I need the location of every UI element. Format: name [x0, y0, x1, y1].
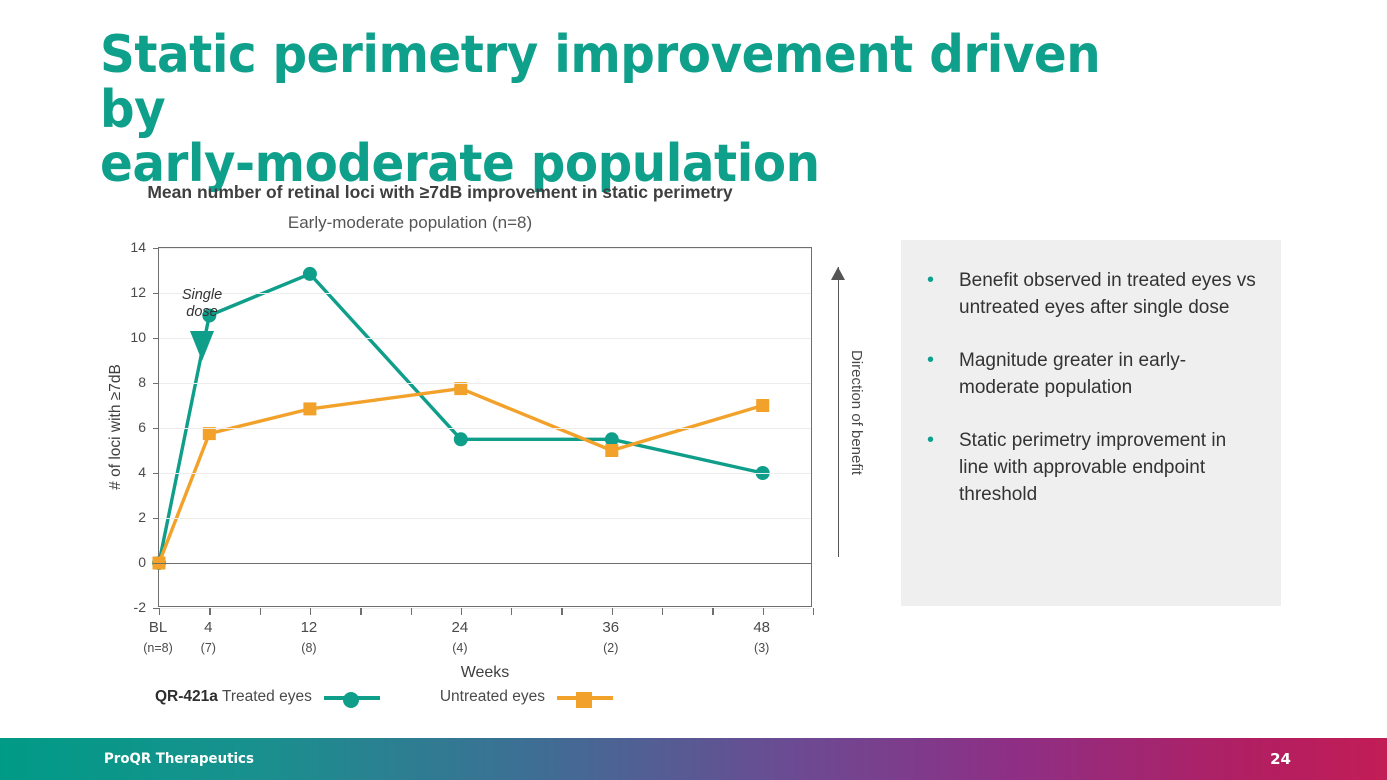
x-tick-label: 24	[420, 619, 500, 636]
y-tick-label: 14	[112, 239, 146, 255]
legend-swatch-untreated	[557, 689, 613, 705]
legend-item-treated[interactable]: QR-421a Treated eyes	[155, 688, 380, 706]
x-tick-mark	[561, 608, 562, 615]
single-dose-arrow-icon	[190, 331, 214, 361]
y-tick-mark	[153, 248, 159, 249]
chart-legend: QR-421a Treated eyes Untreated eyes	[155, 688, 613, 706]
legend-item-untreated[interactable]: Untreated eyes	[440, 688, 613, 706]
callout-bullet: Static perimetry improvement in line wit…	[915, 428, 1259, 509]
footer-brand-label: ProQR Therapeutics	[104, 751, 254, 767]
x-tick-mark	[712, 608, 713, 615]
y-tick-label: 4	[112, 464, 146, 480]
slide-footer: ProQR Therapeutics 24	[0, 738, 1387, 780]
chart-container: Mean number of retinal loci with ≥7dB im…	[0, 170, 880, 730]
callout-panel: Benefit observed in treated eyes vs untr…	[901, 240, 1281, 606]
x-tick-mark	[662, 608, 663, 615]
chart-gridline	[159, 248, 811, 249]
callout-bullet: Magnitude greater in early-moderate popu…	[915, 348, 1259, 402]
callout-bullet: Benefit observed in treated eyes vs untr…	[915, 268, 1259, 322]
chart-title: Mean number of retinal loci with ≥7dB im…	[0, 182, 880, 203]
x-tick-mark	[209, 608, 210, 615]
legend-marker-square-icon	[576, 692, 592, 708]
x-tick-label: 48	[722, 619, 802, 636]
direction-arrow-head-icon	[831, 267, 845, 280]
y-tick-label: -2	[112, 599, 146, 615]
series-line-treated-eyes	[159, 274, 763, 563]
single-dose-annotation-label: Single dose	[168, 287, 236, 322]
direction-arrow-text: Direction of benefit	[844, 267, 870, 557]
x-tick-label: 4	[168, 619, 248, 636]
plot-area	[158, 247, 812, 607]
x-tick-mark	[360, 608, 361, 615]
y-tick-label: 8	[112, 374, 146, 390]
x-tick-mark	[763, 608, 764, 615]
x-tick-sublabel: (8)	[269, 641, 349, 655]
direction-of-benefit-annotation: Direction of benefit	[822, 267, 882, 557]
chart-gridline	[159, 518, 811, 519]
x-tick-mark	[411, 608, 412, 615]
x-tick-mark	[260, 608, 261, 615]
data-point-marker[interactable]	[756, 399, 769, 412]
y-tick-label: 10	[112, 329, 146, 345]
x-tick-label: 12	[269, 619, 349, 636]
legend-label-treated-name: Treated eyes	[222, 688, 312, 705]
y-tick-label: 12	[112, 284, 146, 300]
legend-label-treated: QR-421a Treated eyes	[155, 688, 312, 706]
legend-label-treated-prefix: QR-421a	[155, 688, 218, 705]
y-tick-mark	[153, 518, 159, 519]
x-tick-mark	[511, 608, 512, 615]
x-tick-sublabel: (3)	[722, 641, 802, 655]
chart-gridline	[159, 293, 811, 294]
legend-label-untreated: Untreated eyes	[440, 688, 545, 706]
data-point-marker[interactable]	[454, 432, 468, 446]
x-axis-title: Weeks	[158, 664, 812, 682]
chart-gridline	[159, 428, 811, 429]
y-tick-label: 0	[112, 554, 146, 570]
y-tick-mark	[153, 473, 159, 474]
direction-arrow-line	[838, 267, 839, 557]
x-tick-sublabel: (4)	[420, 641, 500, 655]
data-point-marker[interactable]	[303, 402, 316, 415]
data-point-marker[interactable]	[605, 444, 618, 457]
direction-of-benefit-label: Direction of benefit	[849, 349, 866, 474]
y-tick-mark	[153, 563, 159, 564]
y-tick-label: 2	[112, 509, 146, 525]
callout-bullet-list: Benefit observed in treated eyes vs untr…	[901, 240, 1281, 509]
x-tick-mark	[461, 608, 462, 615]
x-tick-mark	[612, 608, 613, 615]
x-tick-sublabel: (2)	[571, 641, 651, 655]
data-point-marker[interactable]	[454, 382, 467, 395]
x-tick-mark	[310, 608, 311, 615]
x-tick-label: 36	[571, 619, 651, 636]
y-tick-mark	[153, 383, 159, 384]
data-point-marker[interactable]	[303, 267, 317, 281]
chart-zero-axis-line	[159, 563, 811, 564]
chart-subtitle: Early-moderate population (n=8)	[0, 213, 820, 233]
chart-gridline	[159, 338, 811, 339]
x-tick-mark	[159, 608, 160, 615]
y-tick-mark	[153, 428, 159, 429]
y-tick-label: 6	[112, 419, 146, 435]
data-point-marker[interactable]	[203, 427, 216, 440]
legend-swatch-treated	[324, 689, 380, 705]
page-title: Static perimetry improvement driven by e…	[100, 28, 1142, 192]
chart-gridline	[159, 383, 811, 384]
x-tick-mark	[813, 608, 814, 615]
series-line-untreated-eyes	[159, 389, 763, 563]
footer-page-number: 24	[1270, 750, 1291, 768]
chart-gridline	[159, 473, 811, 474]
x-tick-sublabel: (7)	[168, 641, 248, 655]
y-tick-mark	[153, 338, 159, 339]
y-tick-mark	[153, 293, 159, 294]
legend-marker-circle-icon	[343, 692, 359, 708]
